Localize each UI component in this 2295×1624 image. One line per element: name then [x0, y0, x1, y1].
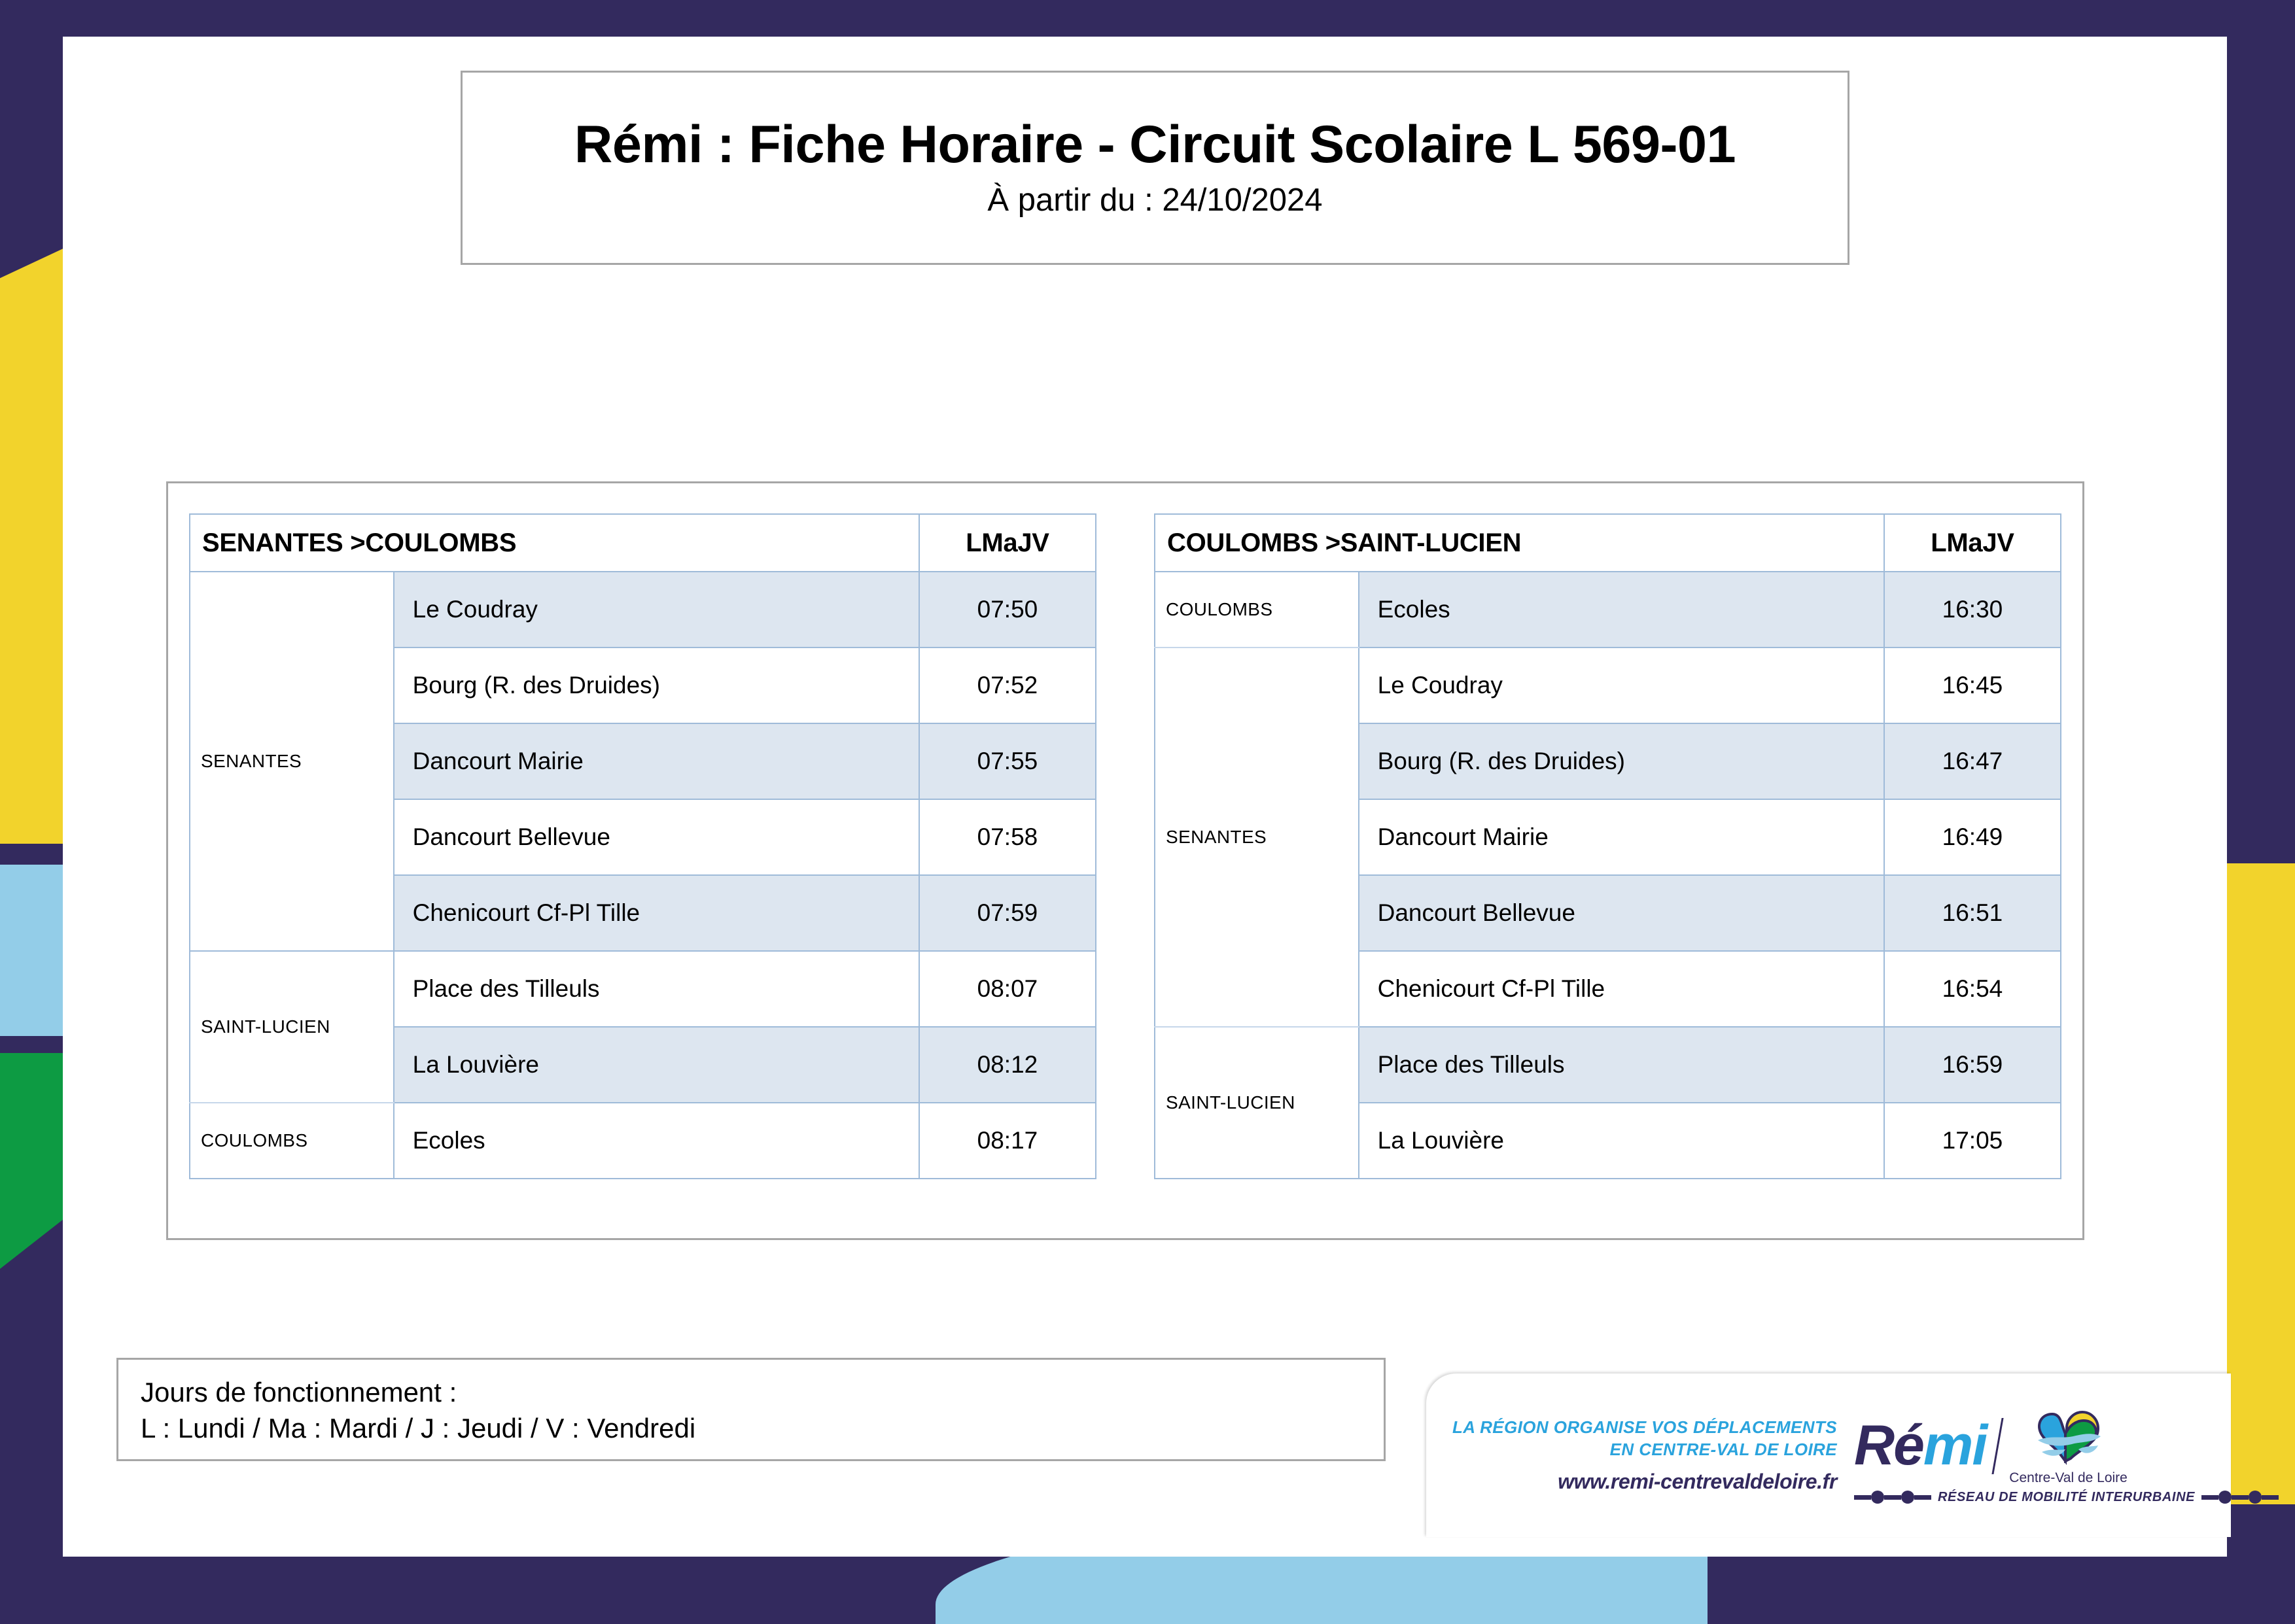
stop-time: 07:52 [919, 648, 1096, 723]
commune-cell: SENANTES [1155, 648, 1359, 1027]
table-row: COULOMBS Ecoles 16:30 [1155, 572, 2061, 648]
stop-name: Ecoles [1359, 572, 1884, 648]
note-line-1: Jours de fonctionnement : [141, 1374, 1361, 1410]
stop-name: Dancourt Mairie [394, 723, 919, 799]
commune-cell: SAINT-LUCIEN [1155, 1027, 1359, 1179]
logo-tagline: LA RÉGION ORGANISE VOS DÉPLACEMENTS EN C… [1452, 1417, 1837, 1494]
left-rail-dots-icon [1854, 1491, 1931, 1504]
title-effective-date: À partir du : 24/10/2024 [987, 182, 1322, 218]
timetable-outbound: SENANTES >COULOMBS LMaJV SENANTES Le Cou… [189, 513, 1096, 1208]
brand-wordmark-row: Rémi Centre-Val de Loire [1854, 1406, 2128, 1486]
route-header: SENANTES >COULOMBS [190, 514, 919, 572]
stop-time: 08:07 [919, 951, 1096, 1027]
stop-name: Bourg (R. des Druides) [394, 648, 919, 723]
remi-brand-mark: Rémi Centre-Val de Loire [1854, 1406, 2279, 1505]
website-url[interactable]: www.remi-centrevaldeloire.fr [1452, 1470, 1837, 1494]
tagline-line-1: LA RÉGION ORGANISE VOS DÉPLACEMENTS [1452, 1417, 1837, 1439]
days-header: LMaJV [919, 514, 1096, 572]
remi-wordmark: Rémi [1854, 1419, 1986, 1473]
table-header-row: SENANTES >COULOMBS LMaJV [190, 514, 1096, 572]
network-label: RÉSEAU DE MOBILITÉ INTERURBAINE [1938, 1490, 2195, 1505]
stop-name: Chenicourt Cf-Pl Tille [1359, 951, 1884, 1027]
heart-leaf-icon [2033, 1406, 2105, 1469]
brand-text-re: Ré [1854, 1414, 1923, 1477]
commune-cell: COULOMBS [1155, 572, 1359, 648]
stop-time: 16:45 [1884, 648, 2061, 723]
commune-cell: SAINT-LUCIEN [190, 951, 394, 1103]
route-header: COULOMBS >SAINT-LUCIEN [1155, 514, 1884, 572]
stop-name: Place des Tilleuls [394, 951, 919, 1027]
tagline-line-2: EN CENTRE-VAL DE LOIRE [1452, 1439, 1837, 1461]
remi-logo-block: LA RÉGION ORGANISE VOS DÉPLACEMENTS EN C… [1426, 1373, 2231, 1537]
timetables-container: SENANTES >COULOMBS LMaJV SENANTES Le Cou… [166, 481, 2084, 1240]
note-line-2: L : Lundi / Ma : Mardi / J : Jeudi / V :… [141, 1410, 1361, 1446]
stop-time: 08:17 [919, 1103, 1096, 1179]
stop-time: 16:49 [1884, 799, 2061, 875]
title-box: Rémi : Fiche Horaire - Circuit Scolaire … [461, 71, 1849, 265]
stop-name: Dancourt Mairie [1359, 799, 1884, 875]
timetable-return: COULOMBS >SAINT-LUCIEN LMaJV COULOMBS Ec… [1154, 513, 2061, 1208]
stop-name: Bourg (R. des Druides) [1359, 723, 1884, 799]
commune-cell: SENANTES [190, 572, 394, 951]
right-rail-dots-icon [2201, 1491, 2279, 1504]
stop-time: 07:59 [919, 875, 1096, 951]
white-sheet: Rémi : Fiche Horaire - Circuit Scolaire … [63, 37, 2227, 1557]
commune-cell: COULOMBS [190, 1103, 394, 1179]
stop-time: 16:30 [1884, 572, 2061, 648]
stop-time: 08:12 [919, 1027, 1096, 1103]
schedule-table: SENANTES >COULOMBS LMaJV SENANTES Le Cou… [189, 513, 1096, 1179]
stop-name: Dancourt Bellevue [394, 799, 919, 875]
stop-name: Place des Tilleuls [1359, 1027, 1884, 1103]
stop-name: Chenicourt Cf-Pl Tille [394, 875, 919, 951]
stop-name: Le Coudray [394, 572, 919, 648]
stop-time: 16:54 [1884, 951, 2061, 1027]
stop-name: Le Coudray [1359, 648, 1884, 723]
table-row: SAINT-LUCIEN Place des Tilleuls 16:59 [1155, 1027, 2061, 1103]
stop-time: 16:51 [1884, 875, 2061, 951]
stop-name: Ecoles [394, 1103, 919, 1179]
stop-time: 07:55 [919, 723, 1096, 799]
days-header: LMaJV [1884, 514, 2061, 572]
stop-time: 17:05 [1884, 1103, 2061, 1179]
table-row: SAINT-LUCIEN Place des Tilleuls 08:07 [190, 951, 1096, 1027]
stop-time: 16:47 [1884, 723, 2061, 799]
brand-text-mi: mi [1923, 1414, 1986, 1477]
centre-val-de-loire-emblem: Centre-Val de Loire [2009, 1406, 2128, 1486]
stop-time: 16:59 [1884, 1027, 2061, 1103]
table-row: SENANTES Le Coudray 16:45 [1155, 648, 2061, 723]
stop-name: La Louvière [394, 1027, 919, 1103]
table-header-row: COULOMBS >SAINT-LUCIEN LMaJV [1155, 514, 2061, 572]
poster-page: Rémi : Fiche Horaire - Circuit Scolaire … [0, 0, 2295, 1624]
stop-time: 07:58 [919, 799, 1096, 875]
stop-time: 07:50 [919, 572, 1096, 648]
operating-days-note: Jours de fonctionnement : L : Lundi / Ma… [116, 1358, 1386, 1461]
schedule-table: COULOMBS >SAINT-LUCIEN LMaJV COULOMBS Ec… [1154, 513, 2061, 1179]
network-strapline-row: RÉSEAU DE MOBILITÉ INTERURBAINE [1854, 1490, 2279, 1505]
region-label: Centre-Val de Loire [2009, 1470, 2128, 1486]
logo-divider [1992, 1418, 2004, 1474]
page-title: Rémi : Fiche Horaire - Circuit Scolaire … [574, 117, 1736, 173]
table-row: SENANTES Le Coudray 07:50 [190, 572, 1096, 648]
stop-name: Dancourt Bellevue [1359, 875, 1884, 951]
table-row: COULOMBS Ecoles 08:17 [190, 1103, 1096, 1179]
stop-name: La Louvière [1359, 1103, 1884, 1179]
